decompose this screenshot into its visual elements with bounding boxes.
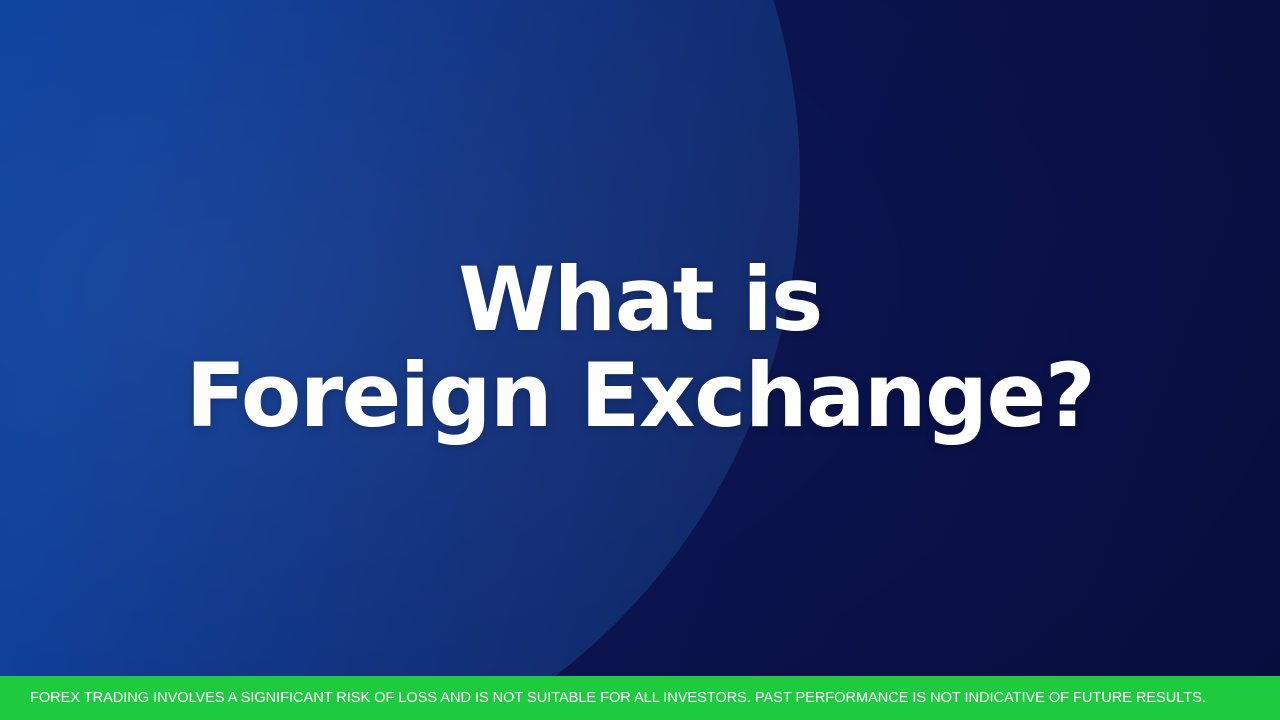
page-title-line-2: Foreign Exchange? [0, 348, 1280, 444]
page-title-line-1: What is [0, 252, 1280, 348]
risk-disclaimer-text: FOREX TRADING INVOLVES A SIGNIFICANT RIS… [30, 691, 1206, 706]
title-slide: What is Foreign Exchange? FOREX TRADING … [0, 0, 1280, 720]
risk-disclaimer-banner: FOREX TRADING INVOLVES A SIGNIFICANT RIS… [0, 676, 1280, 720]
page-title: What is Foreign Exchange? [0, 252, 1280, 444]
